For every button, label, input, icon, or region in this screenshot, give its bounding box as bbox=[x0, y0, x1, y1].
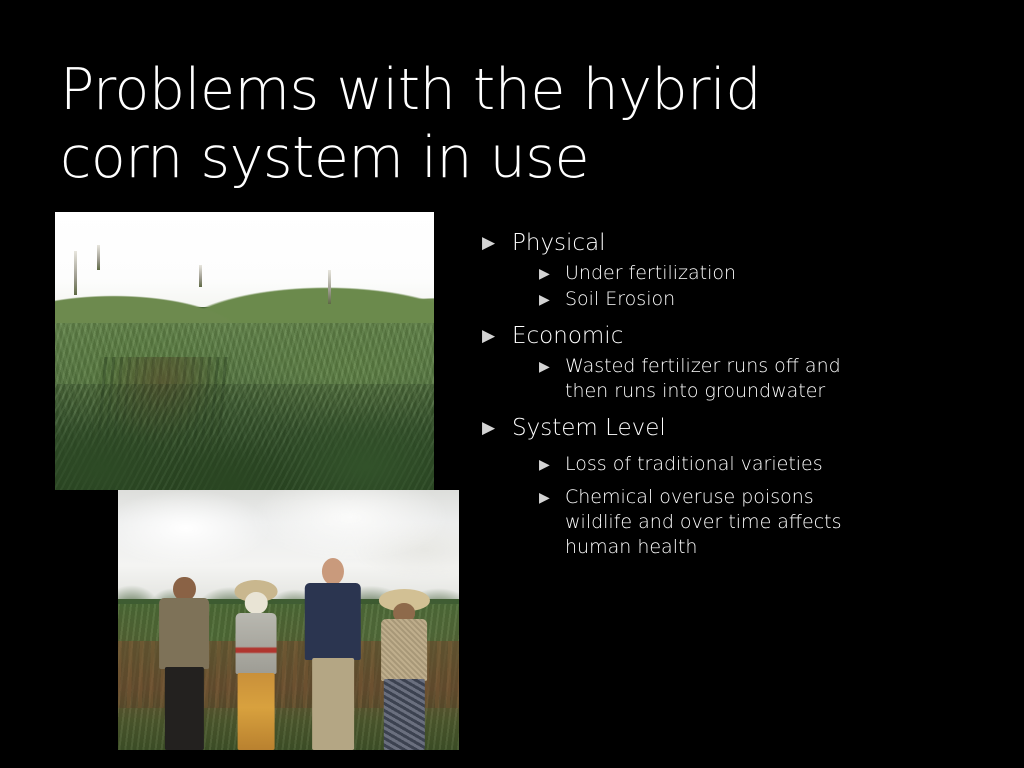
person-torso bbox=[382, 619, 428, 680]
bullet-label: Chemical overuse poisons wildlife and ov… bbox=[565, 485, 882, 560]
dead-tree-snag bbox=[74, 251, 77, 295]
triangle-bullet-icon: ▶ bbox=[482, 321, 512, 345]
bullet-item-economic: ▶ Economic bbox=[482, 321, 882, 352]
bullet-item-under-fertilization: ▶ Under fertilization bbox=[539, 261, 882, 286]
triangle-bullet-icon: ▶ bbox=[539, 287, 565, 307]
slide-bullet-list: ▶ Physical ▶ Under fertilization ▶ Soil … bbox=[482, 228, 882, 561]
person-head bbox=[322, 558, 344, 585]
farmers-group-photo bbox=[118, 490, 459, 750]
triangle-bullet-icon: ▶ bbox=[539, 485, 565, 505]
person-torso bbox=[236, 613, 277, 675]
bullet-item-physical: ▶ Physical bbox=[482, 228, 882, 259]
triangle-bullet-icon: ▶ bbox=[539, 354, 565, 374]
bullet-label: System Level bbox=[512, 413, 882, 444]
dead-tree-snag bbox=[97, 245, 100, 270]
bullet-item-loss-of-varieties: ▶ Loss of traditional varieties bbox=[539, 452, 882, 477]
person-legs bbox=[238, 673, 275, 750]
slide-title: Problems with the hybrid corn system in … bbox=[60, 56, 900, 192]
person-figure bbox=[231, 578, 282, 750]
dead-tree-snag bbox=[328, 270, 331, 303]
bullet-item-wasted-fertilizer: ▶ Wasted fertilizer runs off and then ru… bbox=[539, 354, 882, 404]
person-torso bbox=[305, 583, 361, 660]
person-legs bbox=[312, 658, 354, 750]
person-figure bbox=[302, 558, 363, 750]
bullet-label: Soil Erosion bbox=[565, 287, 882, 312]
triangle-bullet-icon: ▶ bbox=[539, 261, 565, 281]
bullet-item-soil-erosion: ▶ Soil Erosion bbox=[539, 287, 882, 312]
bullet-label: Physical bbox=[512, 228, 882, 259]
photo-brush-region bbox=[55, 384, 434, 490]
bullet-label: Under fertilization bbox=[565, 261, 882, 286]
person-legs bbox=[384, 679, 424, 750]
triangle-bullet-icon: ▶ bbox=[539, 452, 565, 472]
presentation-slide: Problems with the hybrid corn system in … bbox=[0, 0, 1024, 768]
bullet-label: Wasted fertilizer runs off and then runs… bbox=[565, 354, 882, 404]
bullet-item-system-level: ▶ System Level bbox=[482, 413, 882, 444]
person-head bbox=[245, 592, 268, 614]
bullet-label: Economic bbox=[512, 321, 882, 352]
person-legs bbox=[165, 667, 203, 750]
dead-tree-snag bbox=[199, 265, 202, 287]
bullet-item-chemical-overuse: ▶ Chemical overuse poisons wildlife and … bbox=[539, 485, 882, 560]
person-figure bbox=[156, 573, 214, 750]
triangle-bullet-icon: ▶ bbox=[482, 413, 512, 437]
hillside-corn-field-photo bbox=[55, 212, 434, 490]
triangle-bullet-icon: ▶ bbox=[482, 228, 512, 252]
bullet-label: Loss of traditional varieties bbox=[565, 452, 882, 477]
person-figure bbox=[377, 589, 432, 750]
person-torso bbox=[160, 598, 210, 669]
